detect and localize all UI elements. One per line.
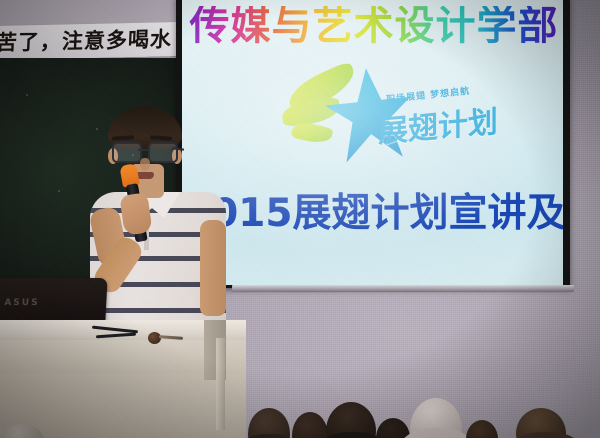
audience-head (0, 424, 44, 438)
presenter-nose (140, 158, 150, 171)
handwritten-banner-text: 苦了，注意多喝水 (0, 23, 173, 57)
laptop-brand-label: ASUS (4, 298, 40, 308)
logo-wordmark: 展翅计划 (378, 97, 498, 152)
audience-row (0, 352, 600, 438)
cables (92, 326, 142, 342)
slide-subtitle: 2015展翅计划宣讲及动员大会 (184, 182, 563, 238)
keys-on-table (148, 332, 184, 344)
audience-head (466, 420, 498, 438)
handwritten-banner: 苦了，注意多喝水 (0, 22, 180, 60)
screen-bottom-bar (232, 285, 574, 292)
zhanchi-logo: 职场展翅 梦想启航 展翅计划 (282, 66, 492, 162)
glasses-lens (148, 142, 178, 163)
audience-head (376, 418, 410, 438)
slide-title: 传媒与艺术设计学部 (188, 6, 560, 46)
audience-head (292, 412, 328, 438)
projection-screen: 传媒与艺术设计学部 职场展翅 梦想启航 展翅计划 2015展翅计划宣讲及动员大会 (182, 0, 563, 285)
presenter-right-arm (200, 220, 226, 316)
glasses-lens (112, 142, 142, 163)
glasses-bridge (138, 149, 148, 151)
photo-scene: 苦了，注意多喝水 传媒与艺术设计学部 职场展翅 梦想启航 展翅计划 2015展翅… (0, 0, 600, 438)
key-blade (159, 335, 183, 340)
presenter-hand (119, 192, 152, 236)
